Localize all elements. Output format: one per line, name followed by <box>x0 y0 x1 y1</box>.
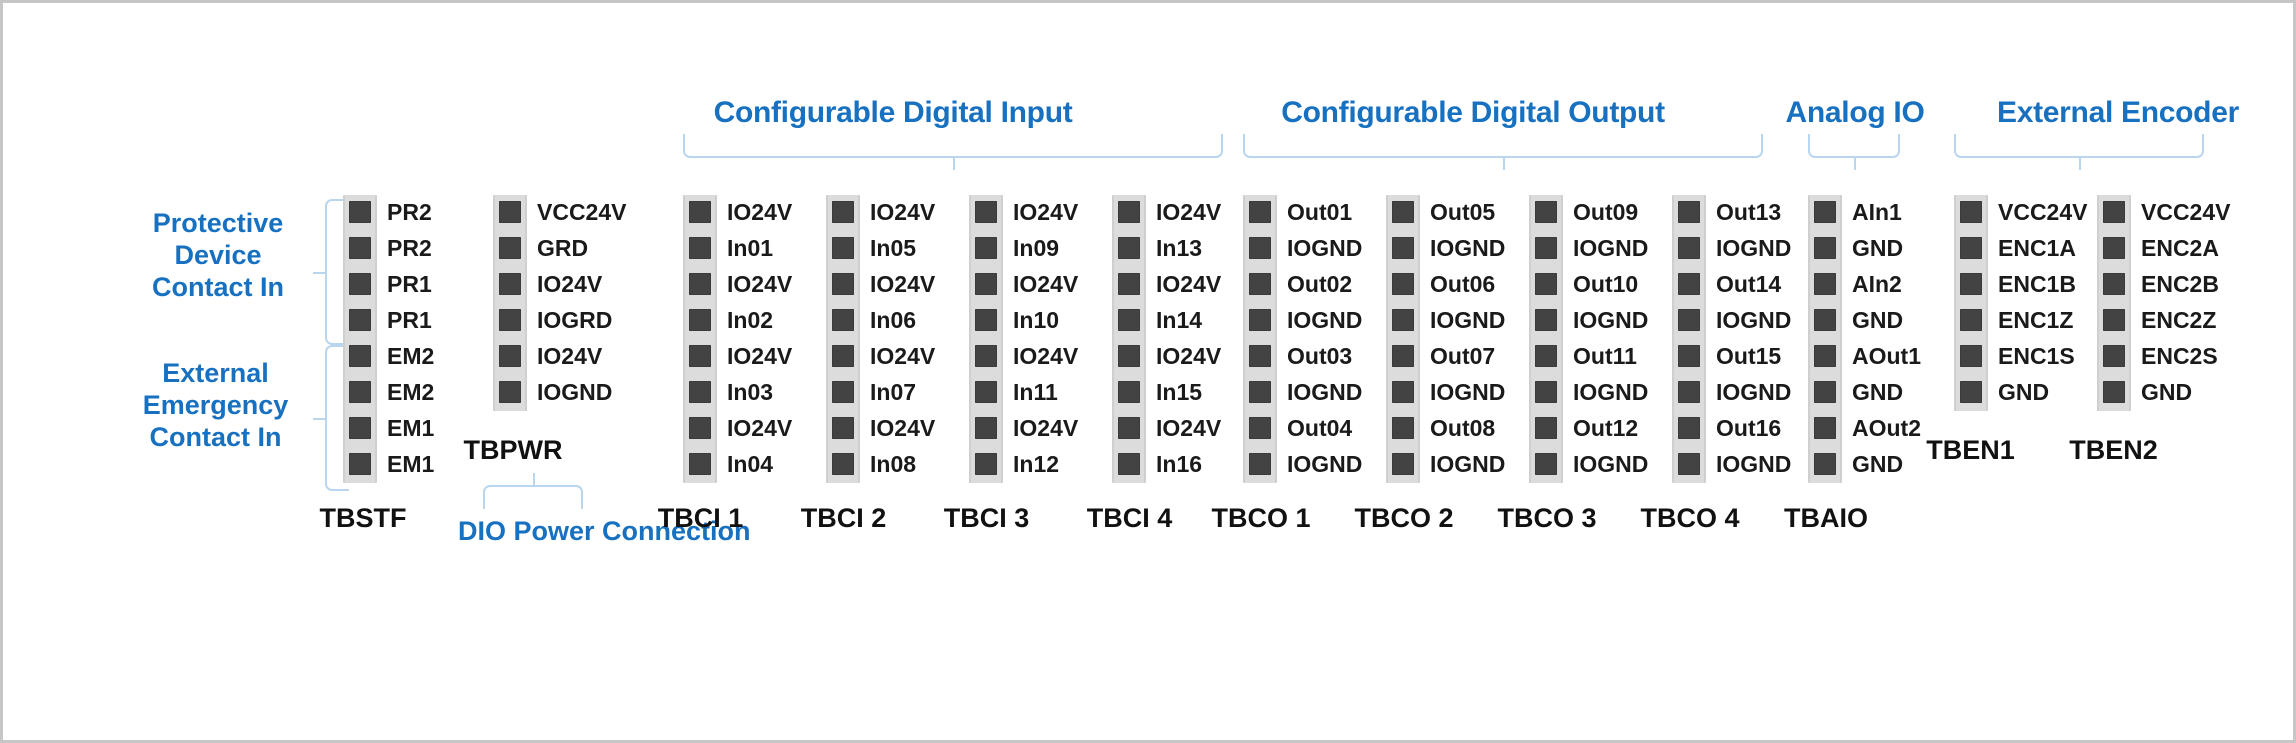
pin-terminal-icon <box>1960 345 1982 367</box>
pin-terminal-icon <box>349 381 371 403</box>
pin-label: ENC1B <box>1998 273 2076 295</box>
pin-terminal-icon <box>1249 201 1271 223</box>
group-header-external-encoder: External Encoder <box>1958 96 2278 130</box>
bracket-tick <box>953 156 955 170</box>
pin-terminal-icon <box>1118 273 1140 295</box>
group-header-configurable-digital-output: Configurable Digital Output <box>1243 96 1703 130</box>
pin-terminal-icon <box>689 237 711 259</box>
pin-terminal-icon <box>832 453 854 475</box>
pin-terminal-icon <box>689 381 711 403</box>
pin-terminal-icon <box>499 237 521 259</box>
pin-label: IOGND <box>1573 309 1648 331</box>
pin-terminal-icon <box>975 309 997 331</box>
pin-terminal-icon <box>1814 237 1836 259</box>
pin-label: In03 <box>727 381 773 403</box>
pin-terminal-icon <box>689 273 711 295</box>
pin-label: ENC2A <box>2141 237 2219 259</box>
pin-label: GND <box>1998 381 2049 403</box>
pin-label: In04 <box>727 453 773 475</box>
pin-label: EM1 <box>387 453 434 475</box>
pin-label: Out14 <box>1716 273 1781 295</box>
pin-label: IO24V <box>1156 417 1221 439</box>
pin-terminal-icon <box>689 453 711 475</box>
pin-label: IO24V <box>870 201 935 223</box>
block-name-tbci-3: TBCI 3 <box>909 503 1064 534</box>
pin-terminal-icon <box>1535 453 1557 475</box>
pin-terminal-icon <box>1118 309 1140 331</box>
pin-terminal-icon <box>832 309 854 331</box>
pin-terminal-icon <box>1392 273 1414 295</box>
block-name-tbco-2: TBCO 2 <box>1324 503 1484 534</box>
block-name-tbstf: TBSTF <box>293 503 433 534</box>
pin-label: In02 <box>727 309 773 331</box>
pin-terminal-icon <box>349 309 371 331</box>
pin-terminal-icon <box>499 309 521 331</box>
pin-label: IOGND <box>1430 309 1505 331</box>
pin-terminal-icon <box>1678 273 1700 295</box>
pin-label: In13 <box>1156 237 1202 259</box>
block-name-tben1: TBEN1 <box>1893 435 2048 466</box>
pin-label: In10 <box>1013 309 1059 331</box>
block-name-tbaio: TBAIO <box>1751 503 1901 534</box>
pin-terminal-icon <box>975 453 997 475</box>
pin-label: In05 <box>870 237 916 259</box>
bracket-external-encoder <box>1954 134 2204 158</box>
pin-terminal-icon <box>1535 381 1557 403</box>
pin-terminal-icon <box>1814 345 1836 367</box>
pin-label: IOGND <box>1287 309 1362 331</box>
pin-terminal-icon <box>975 381 997 403</box>
pin-terminal-icon <box>1392 381 1414 403</box>
pin-label: ENC1A <box>1998 237 2076 259</box>
pin-label: Out09 <box>1573 201 1638 223</box>
pin-terminal-icon <box>1392 309 1414 331</box>
pin-label: IO24V <box>1156 345 1221 367</box>
pin-terminal-icon <box>1678 237 1700 259</box>
pin-label: GRD <box>537 237 588 259</box>
bracket-configurable-digital-input <box>683 134 1223 158</box>
pin-label: IO24V <box>1013 273 1078 295</box>
pin-terminal-icon <box>2103 381 2125 403</box>
pin-label: In12 <box>1013 453 1059 475</box>
pin-terminal-icon <box>1392 345 1414 367</box>
pin-label: In15 <box>1156 381 1202 403</box>
pin-terminal-icon <box>1678 309 1700 331</box>
pin-label: In08 <box>870 453 916 475</box>
pin-strip <box>493 195 527 411</box>
pin-terminal-icon <box>689 201 711 223</box>
pin-label: IOGND <box>1430 453 1505 475</box>
pin-label: Out07 <box>1430 345 1495 367</box>
pin-terminal-icon <box>1535 417 1557 439</box>
bracket-dio-power-connection <box>483 485 583 509</box>
pin-label: In11 <box>1013 381 1058 403</box>
pin-terminal-icon <box>1249 345 1271 367</box>
pin-label: Out12 <box>1573 417 1638 439</box>
pin-terminal-icon <box>1118 237 1140 259</box>
pin-terminal-icon <box>689 345 711 367</box>
pin-label: PR1 <box>387 309 432 331</box>
pin-label: GND <box>1852 309 1903 331</box>
pin-terminal-icon <box>1678 201 1700 223</box>
pin-terminal-icon <box>2103 201 2125 223</box>
pin-terminal-icon <box>832 237 854 259</box>
pin-terminal-icon <box>689 309 711 331</box>
pin-label: IOGND <box>1287 453 1362 475</box>
pin-terminal-icon <box>2103 345 2125 367</box>
pin-label: IOGND <box>1287 237 1362 259</box>
pin-label: IO24V <box>1013 345 1078 367</box>
pin-label: VCC24V <box>1998 201 2087 223</box>
pin-terminal-icon <box>832 381 854 403</box>
pin-label: ENC2B <box>2141 273 2219 295</box>
pin-label: GND <box>1852 381 1903 403</box>
pin-terminal-icon <box>975 417 997 439</box>
pin-label: PR2 <box>387 237 432 259</box>
pin-label: EM1 <box>387 417 434 439</box>
pin-label: GND <box>1852 237 1903 259</box>
pin-label: Out04 <box>1287 417 1352 439</box>
pin-terminal-icon <box>1535 237 1557 259</box>
pin-label: IO24V <box>1156 201 1221 223</box>
pin-terminal-icon <box>2103 237 2125 259</box>
pin-terminal-icon <box>1535 345 1557 367</box>
pin-label: IO24V <box>870 273 935 295</box>
pin-label: VCC24V <box>537 201 626 223</box>
pin-label: IO24V <box>870 345 935 367</box>
bracket-tick <box>313 272 327 274</box>
diagram-canvas: Configurable Digital Input Configurable … <box>0 0 2296 743</box>
pin-label: IO24V <box>727 417 792 439</box>
bracket-tick <box>1503 156 1505 170</box>
pin-label: IOGND <box>1573 453 1648 475</box>
pin-terminal-icon <box>975 201 997 223</box>
pin-terminal-icon <box>1118 417 1140 439</box>
pin-terminal-icon <box>1814 381 1836 403</box>
pin-label: Out01 <box>1287 201 1352 223</box>
pin-terminal-icon <box>349 345 371 367</box>
bracket-tick <box>2079 156 2081 170</box>
pin-terminal-icon <box>1392 417 1414 439</box>
pin-label: IOGRD <box>537 309 612 331</box>
pin-label: Out11 <box>1573 345 1637 367</box>
pin-label: IOGND <box>1716 453 1791 475</box>
pin-terminal-icon <box>1249 417 1271 439</box>
pin-label: In16 <box>1156 453 1202 475</box>
pin-terminal-icon <box>2103 273 2125 295</box>
pin-terminal-icon <box>1960 237 1982 259</box>
bracket-tick <box>533 473 535 487</box>
pin-label: IO24V <box>1013 417 1078 439</box>
pin-label: ENC1Z <box>1998 309 2073 331</box>
bracket-configurable-digital-output <box>1243 134 1763 158</box>
pin-label: IO24V <box>1013 201 1078 223</box>
pin-label: GND <box>2141 381 2192 403</box>
pin-terminal-icon <box>1249 273 1271 295</box>
pin-label: ENC2S <box>2141 345 2218 367</box>
pin-label: Out05 <box>1430 201 1495 223</box>
pin-label: In09 <box>1013 237 1059 259</box>
pin-label: EM2 <box>387 381 434 403</box>
pin-terminal-icon <box>1535 273 1557 295</box>
pin-terminal-icon <box>975 345 997 367</box>
block-name-tben2: TBEN2 <box>2036 435 2191 466</box>
pin-terminal-icon <box>832 345 854 367</box>
pin-terminal-icon <box>1678 381 1700 403</box>
bracket-tick <box>1854 156 1856 170</box>
pin-terminal-icon <box>1814 273 1836 295</box>
pin-label: Out08 <box>1430 417 1495 439</box>
group-header-analog-io: Analog IO <box>1760 96 1950 130</box>
pin-terminal-icon <box>1249 309 1271 331</box>
pin-terminal-icon <box>499 273 521 295</box>
pin-terminal-icon <box>349 237 371 259</box>
block-subname-dio-power-connection: DIO Power Connection <box>458 516 613 548</box>
pin-terminal-icon <box>832 273 854 295</box>
pin-terminal-icon <box>1960 309 1982 331</box>
pin-label: IO24V <box>727 273 792 295</box>
pin-terminal-icon <box>349 201 371 223</box>
pin-terminal-icon <box>499 201 521 223</box>
pin-label: IOGND <box>1430 237 1505 259</box>
pin-label: IOGND <box>1573 237 1648 259</box>
block-name-tbci-1: TBCI 1 <box>623 503 778 534</box>
pin-terminal-icon <box>1814 453 1836 475</box>
pin-terminal-icon <box>1960 273 1982 295</box>
pin-label: VCC24V <box>2141 201 2230 223</box>
pin-label: IOGND <box>1716 381 1791 403</box>
pin-terminal-icon <box>1814 309 1836 331</box>
group-header-configurable-digital-input: Configurable Digital Input <box>683 96 1103 130</box>
pin-terminal-icon <box>349 453 371 475</box>
pin-label: In07 <box>870 381 916 403</box>
pin-terminal-icon <box>1392 237 1414 259</box>
block-name-tbco-1: TBCO 1 <box>1181 503 1341 534</box>
pin-terminal-icon <box>1678 345 1700 367</box>
pin-label: Out13 <box>1716 201 1781 223</box>
pin-label: PR2 <box>387 201 432 223</box>
block-name-tbci-2: TBCI 2 <box>766 503 921 534</box>
pin-terminal-icon <box>1960 201 1982 223</box>
pin-terminal-icon <box>349 273 371 295</box>
pin-label: PR1 <box>387 273 432 295</box>
pin-label: AIn1 <box>1852 201 1902 223</box>
pin-label: In14 <box>1156 309 1202 331</box>
pin-terminal-icon <box>1249 453 1271 475</box>
pin-label: IO24V <box>727 201 792 223</box>
pin-label: Out10 <box>1573 273 1638 295</box>
pin-label: IOGND <box>1430 381 1505 403</box>
pin-label: IOGND <box>1716 309 1791 331</box>
pin-label: IO24V <box>537 273 602 295</box>
pin-label: Out16 <box>1716 417 1781 439</box>
pin-terminal-icon <box>1535 201 1557 223</box>
pin-terminal-icon <box>1535 309 1557 331</box>
side-label-protective-device-contact-in: Protective Device Contact In <box>113 208 323 304</box>
pin-label: IOGND <box>1573 381 1648 403</box>
pin-strip <box>2097 195 2131 411</box>
pin-terminal-icon <box>1392 453 1414 475</box>
pin-terminal-icon <box>1814 417 1836 439</box>
pin-terminal-icon <box>975 237 997 259</box>
pin-label: In06 <box>870 309 916 331</box>
pin-terminal-icon <box>1678 417 1700 439</box>
block-name-tbco-3: TBCO 3 <box>1467 503 1627 534</box>
pin-terminal-icon <box>1118 201 1140 223</box>
pin-terminal-icon <box>1118 453 1140 475</box>
pin-label: IO24V <box>727 345 792 367</box>
pin-label: IOGND <box>1716 237 1791 259</box>
pin-terminal-icon <box>1249 381 1271 403</box>
pin-terminal-icon <box>1249 237 1271 259</box>
pin-label: IOGND <box>1287 381 1362 403</box>
pin-terminal-icon <box>499 345 521 367</box>
pin-label: In01 <box>727 237 773 259</box>
pin-terminal-icon <box>499 381 521 403</box>
block-name-tbco-4: TBCO 4 <box>1610 503 1770 534</box>
pin-label: IO24V <box>1156 273 1221 295</box>
pin-label: IOGND <box>537 381 612 403</box>
pin-label: EM2 <box>387 345 434 367</box>
pin-label: Out03 <box>1287 345 1352 367</box>
bracket-tick <box>313 418 327 420</box>
side-label-external-emergency-contact-in: External Emergency Contact In <box>103 358 328 454</box>
pin-terminal-icon <box>832 201 854 223</box>
pin-label: AOut1 <box>1852 345 1921 367</box>
block-name-tbpwr: TBPWR <box>438 435 588 466</box>
pin-label: ENC1S <box>1998 345 2075 367</box>
pin-label: Out06 <box>1430 273 1495 295</box>
pin-label: Out02 <box>1287 273 1352 295</box>
pin-label: ENC2Z <box>2141 309 2216 331</box>
pin-terminal-icon <box>832 417 854 439</box>
bracket-analog-io <box>1808 134 1900 158</box>
pin-terminal-icon <box>2103 309 2125 331</box>
pin-terminal-icon <box>1118 381 1140 403</box>
pin-terminal-icon <box>689 417 711 439</box>
pin-terminal-icon <box>1392 201 1414 223</box>
pin-label: AIn2 <box>1852 273 1902 295</box>
pin-terminal-icon <box>1960 381 1982 403</box>
pin-label: IO24V <box>537 345 602 367</box>
pin-terminal-icon <box>975 273 997 295</box>
pin-terminal-icon <box>349 417 371 439</box>
pin-strip <box>1954 195 1988 411</box>
pin-terminal-icon <box>1814 201 1836 223</box>
pin-label: Out15 <box>1716 345 1781 367</box>
pin-label: IO24V <box>870 417 935 439</box>
pin-terminal-icon <box>1678 453 1700 475</box>
pin-terminal-icon <box>1118 345 1140 367</box>
